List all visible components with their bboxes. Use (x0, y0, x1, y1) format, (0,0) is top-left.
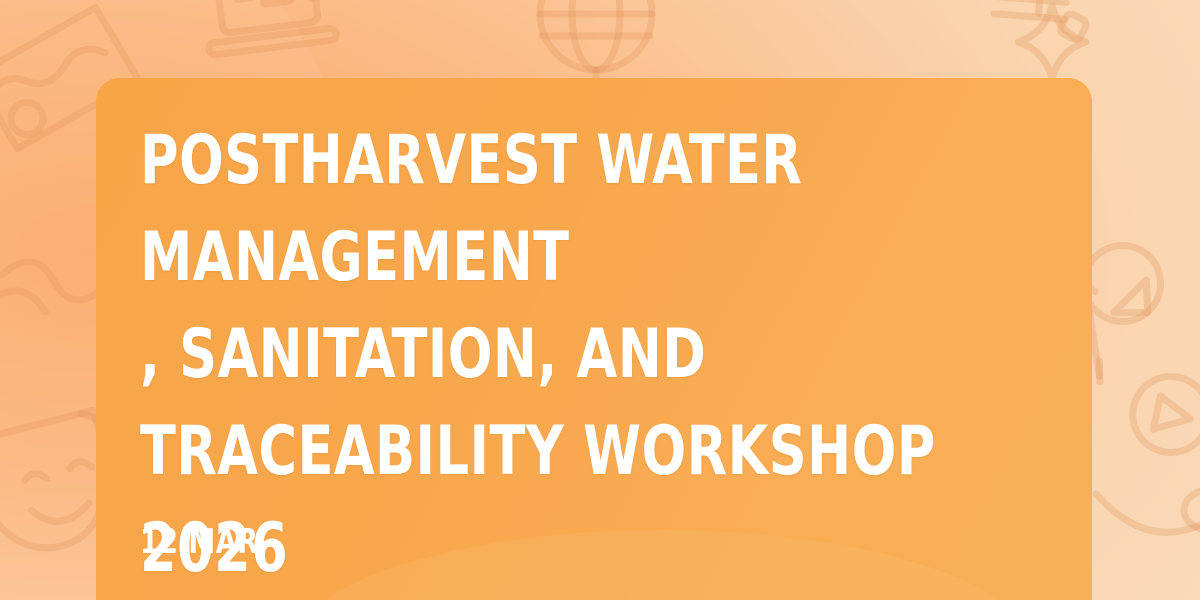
globe-icon (540, 0, 652, 90)
trophy-star-icon (1126, 369, 1200, 459)
balloon-string-icon (1096, 490, 1200, 588)
confetti-streamer-icon (0, 255, 108, 323)
laptop-presentation-icon (199, 0, 337, 55)
event-banner: Postharvest Water Management , Sanitatio… (0, 0, 1200, 600)
card-content: Postharvest Water Management , Sanitatio… (140, 78, 1056, 600)
event-card: Postharvest Water Management , Sanitatio… (96, 78, 1092, 600)
event-date: 12 Mar (140, 522, 258, 562)
page-title: Postharvest Water Management , Sanitatio… (140, 112, 966, 597)
